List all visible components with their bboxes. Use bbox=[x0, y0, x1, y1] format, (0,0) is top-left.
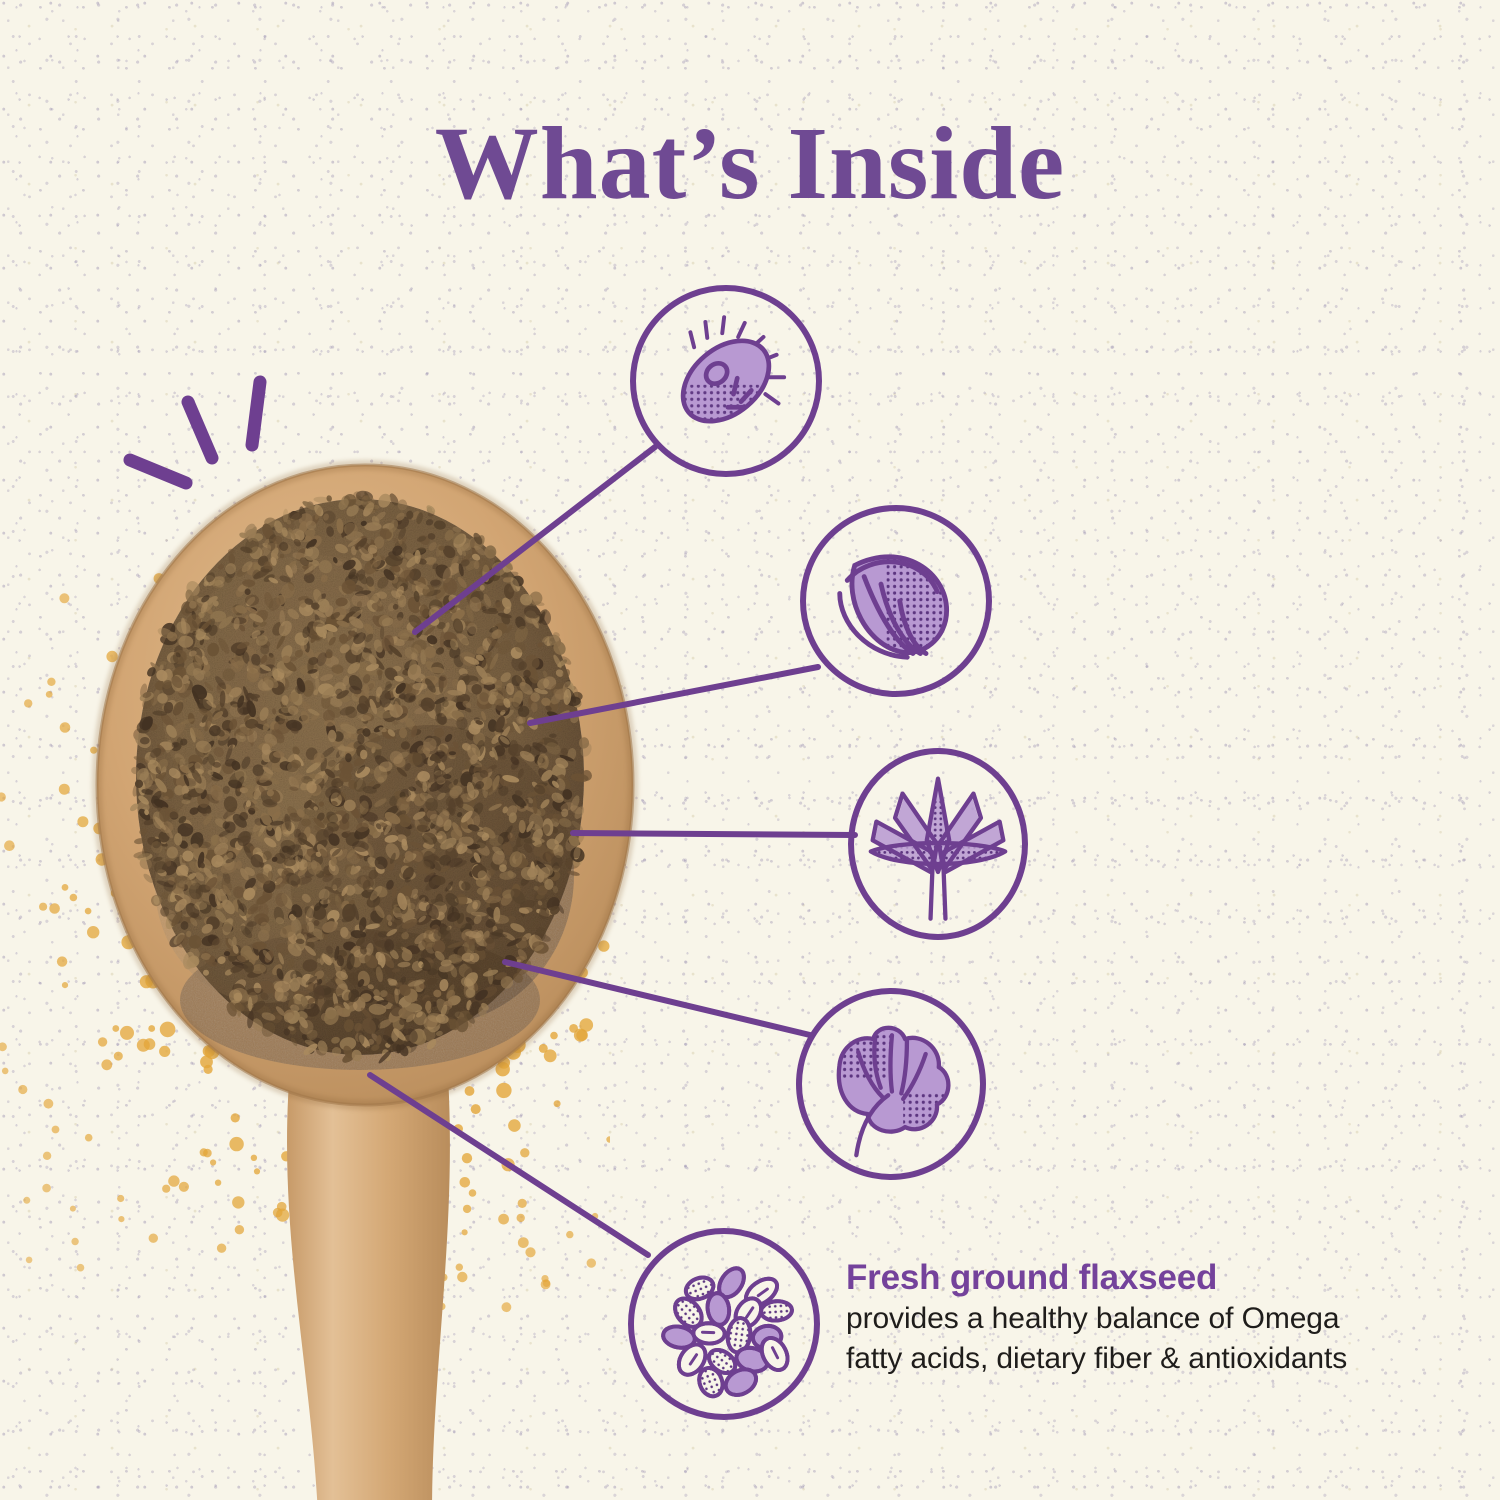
sparkle-marks-icon bbox=[120, 370, 310, 500]
bacteria-probiotic-icon bbox=[636, 291, 816, 471]
copy-fresh-ground-flaxseed: Fresh ground flaxseed provides a healthy… bbox=[846, 1258, 1347, 1378]
badge-green-lipped-mussel[interactable] bbox=[800, 505, 992, 697]
yucca-plant-icon bbox=[854, 754, 1022, 934]
page-title: What’s Inside bbox=[0, 112, 1500, 216]
flaxseed-cluster-icon bbox=[634, 1234, 814, 1414]
body-line-2: fatty acids, dietary fiber & antioxidant… bbox=[846, 1340, 1347, 1378]
badge-yucca[interactable] bbox=[848, 748, 1028, 940]
infographic-canvas: A LactoSpore® Probiotic to boost absorpt… bbox=[0, 0, 1500, 1500]
badge-bacteria-probiotic[interactable] bbox=[630, 285, 822, 477]
mussel-shell-icon bbox=[806, 511, 986, 691]
body-line-1: provides a healthy balance of Omega bbox=[846, 1300, 1347, 1338]
heading-fresh-ground-flaxseed: Fresh ground flaxseed bbox=[846, 1258, 1347, 1298]
wooden-spoon-image bbox=[60, 455, 680, 1500]
badge-fresh-ground-flaxseed[interactable] bbox=[628, 1228, 820, 1420]
badge-ginko-biloba[interactable] bbox=[796, 988, 986, 1180]
ginkgo-leaf-icon bbox=[802, 994, 980, 1174]
